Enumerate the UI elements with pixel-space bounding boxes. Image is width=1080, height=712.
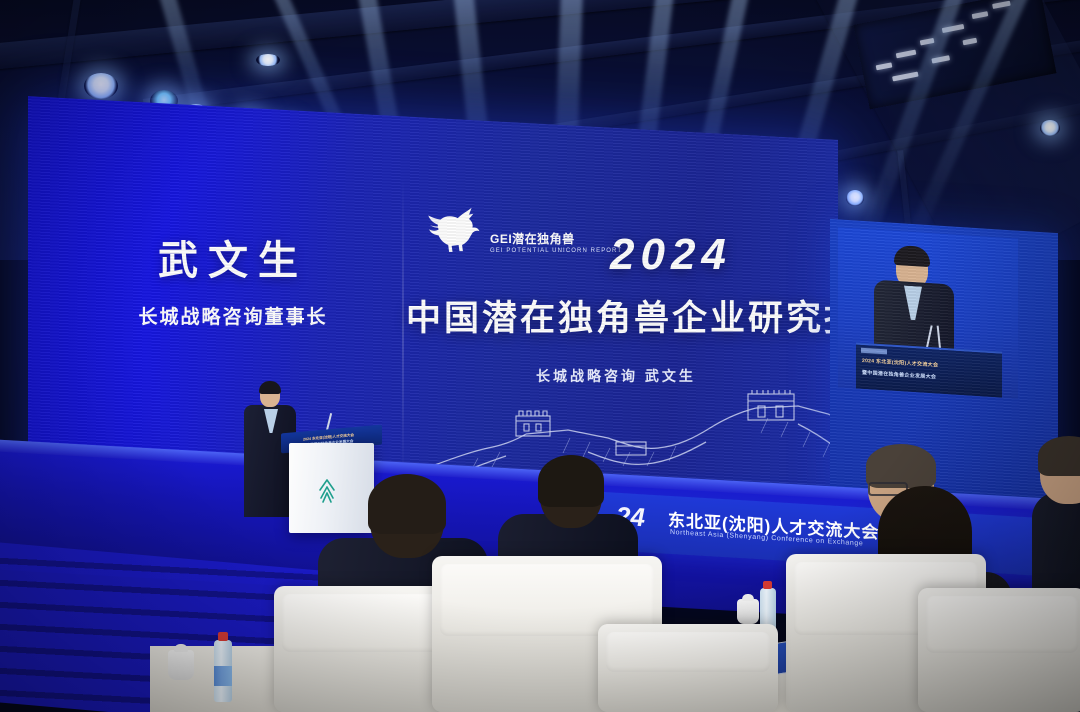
speaker-name: 武文生 (88, 228, 378, 286)
unicorn-icon (428, 206, 484, 258)
audience-sofa (598, 624, 778, 712)
feed-podium: 2024 东北亚(沈阳)人才交流大会 暨中国潜在独角兽企业发展大会 (856, 342, 1002, 397)
audience-body (1032, 492, 1080, 602)
spotlight (846, 190, 864, 206)
speaker-title: 长城战略咨询董事长 (88, 302, 378, 329)
report-title: 中国潜在独角兽企业研究报告 (406, 290, 838, 341)
sofa-cushion (926, 596, 1078, 653)
conference-stage-photo: 武文生 长城战略咨询董事长 GEI潜在独角兽 GEI POTENTIAL UNI… (0, 0, 1080, 712)
audience-sofa (918, 588, 1080, 712)
report-logo: GEI潜在独角兽 GEI POTENTIAL UNICORN REPORT (428, 206, 622, 258)
spotlight (84, 73, 118, 99)
presenter-hair (259, 381, 281, 394)
audience-member (1032, 440, 1080, 600)
feed-podium-line2: 暨中国潜在独角兽企业发展大会 (862, 369, 936, 381)
feed-podium-line1: 2024 东北亚(沈阳)人才交流大会 (862, 357, 938, 369)
live-camera-feed: 2024 东北亚(沈阳)人才交流大会 暨中国潜在独角兽企业发展大会 (838, 227, 1018, 398)
audience-hair (368, 474, 446, 534)
report-year: 2024 (610, 230, 732, 280)
logo-text-cn: GEI潜在独角兽 (490, 233, 622, 246)
podium-tag (861, 348, 887, 355)
speaker-name-block: 武文生 长城战略咨询董事长 (88, 228, 378, 329)
logo-text-en: GEI POTENTIAL UNICORN REPORT (490, 248, 622, 254)
audience-hair (1038, 436, 1080, 476)
water-bottle (214, 640, 232, 702)
spotlight (1040, 120, 1060, 136)
teacup (737, 599, 759, 624)
sofa-cushion (606, 632, 770, 672)
spotlight (256, 54, 280, 66)
audience-hair (538, 455, 604, 507)
report-credit: 长城战略咨询 武文生 (536, 366, 696, 386)
teacup (168, 650, 194, 680)
